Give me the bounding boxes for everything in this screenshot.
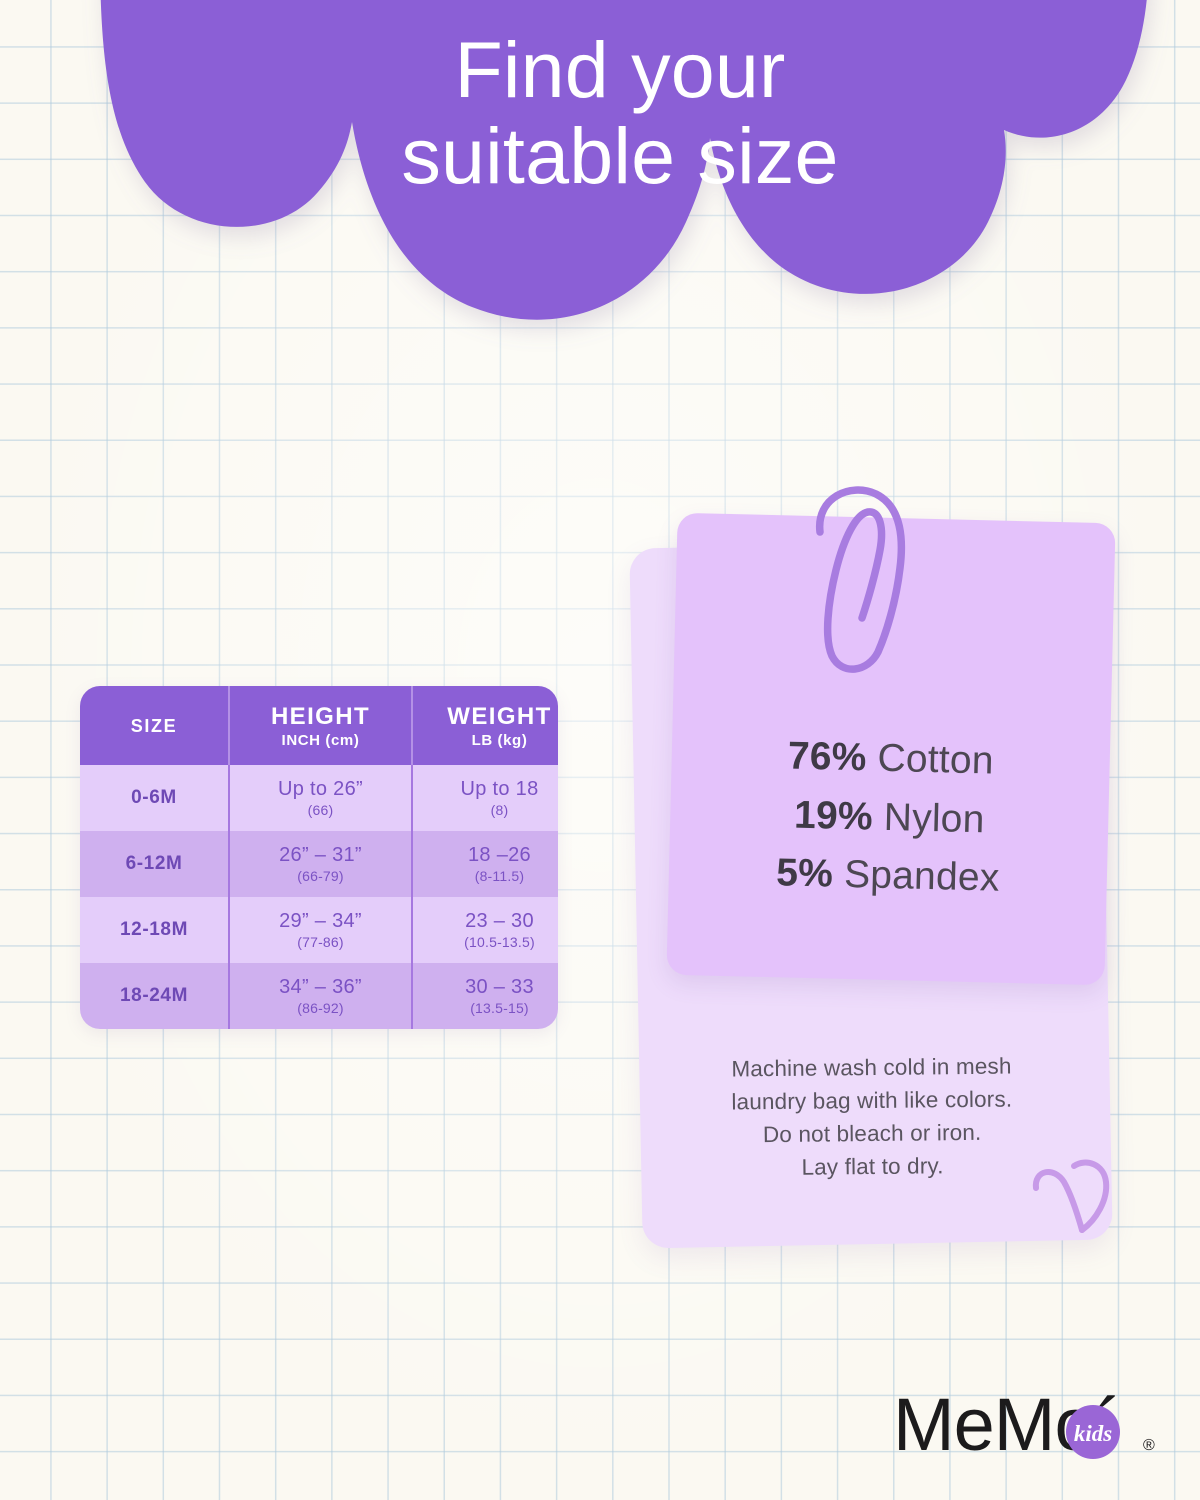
cell-weight-primary: 18 –26 <box>468 844 531 867</box>
column-header-weight-title: WEIGHT <box>447 704 551 729</box>
brand-logo: MeMoí kids ® <box>893 1388 1163 1484</box>
fabric-material: Cotton <box>877 737 994 783</box>
cell-weight: Up to 18 (8) <box>411 765 558 831</box>
fabric-item: 5% Spandex <box>668 842 1107 911</box>
cell-weight-secondary: (8) <box>491 802 509 818</box>
cell-weight-primary: 23 – 30 <box>465 910 534 933</box>
care-instructions-line: Do not bleach or iron. <box>676 1115 1068 1152</box>
fabric-material: Spandex <box>844 853 1000 900</box>
cell-weight-secondary: (10.5-13.5) <box>464 934 535 950</box>
cell-height-secondary: (86-92) <box>297 1000 344 1016</box>
cell-size: 12-18M <box>80 897 228 963</box>
cell-height-secondary: (77-86) <box>297 934 344 950</box>
fabric-percent: 5% <box>776 851 834 895</box>
column-header-weight: WEIGHT LB (kg) <box>411 686 558 765</box>
cell-weight: 30 – 33 (13.5-15) <box>411 963 558 1029</box>
column-header-weight-subtitle: LB (kg) <box>472 732 528 749</box>
page-title-line1: Find your <box>454 25 785 114</box>
table-row: 6-12M 26” – 31” (66-79) 18 –26 (8-11.5) <box>80 831 558 897</box>
cell-height-secondary: (66) <box>308 802 334 818</box>
fabric-percent: 76% <box>787 734 867 779</box>
fabric-percent: 19% <box>794 793 874 838</box>
heart-icon <box>1028 1158 1124 1244</box>
fabric-composition-list: 76% Cotton 19% Nylon 5% Spandex <box>668 725 1110 911</box>
cell-height: 34” – 36” (86-92) <box>228 963 411 1029</box>
table-row: 12-18M 29” – 34” (77-86) 23 – 30 (10.5-1… <box>80 897 558 963</box>
cloud-header: Find your suitable size <box>90 0 1150 402</box>
cell-height-primary: 29” – 34” <box>279 910 362 933</box>
fabric-item: 76% Cotton <box>671 725 1110 794</box>
cell-height-primary: 26” – 31” <box>279 844 362 867</box>
table-row: 18-24M 34” – 36” (86-92) 30 – 33 (13.5-1… <box>80 963 558 1029</box>
kids-badge-label: kids <box>1074 1421 1112 1446</box>
cell-weight: 18 –26 (8-11.5) <box>411 831 558 897</box>
cell-height: Up to 26” (66) <box>228 765 411 831</box>
cell-weight-primary: Up to 18 <box>460 778 538 801</box>
paperclip-icon <box>806 484 916 679</box>
trademark-symbol: ® <box>1143 1437 1155 1454</box>
column-header-height-subtitle: INCH (cm) <box>282 732 360 749</box>
size-chart-table: SIZE HEIGHT INCH (cm) WEIGHT LB (kg) 0-6… <box>80 686 558 1029</box>
table-row: 0-6M Up to 26” (66) Up to 18 (8) <box>80 765 558 831</box>
cell-height-secondary: (66-79) <box>297 868 344 884</box>
cell-size: 6-12M <box>80 831 228 897</box>
cell-weight: 23 – 30 (10.5-13.5) <box>411 897 558 963</box>
cell-height: 26” – 31” (66-79) <box>228 831 411 897</box>
care-instructions-line: Machine wash cold in mesh <box>675 1049 1067 1086</box>
cell-size: 0-6M <box>80 765 228 831</box>
care-instructions: Machine wash cold in mesh laundry bag wi… <box>675 1049 1068 1185</box>
cell-weight-secondary: (13.5-15) <box>470 1000 529 1016</box>
cell-size: 18-24M <box>80 963 228 1029</box>
column-header-height-title: HEIGHT <box>271 704 370 729</box>
table-header-row: SIZE HEIGHT INCH (cm) WEIGHT LB (kg) <box>80 686 558 765</box>
column-header-height: HEIGHT INCH (cm) <box>228 686 411 765</box>
page-title: Find your suitable size <box>90 32 1150 194</box>
column-header-size: SIZE <box>80 686 228 765</box>
care-instructions-line: Lay flat to dry. <box>676 1148 1068 1185</box>
page-title-line2: suitable size <box>90 118 1150 194</box>
cell-weight-primary: 30 – 33 <box>465 976 534 999</box>
cell-weight-secondary: (8-11.5) <box>475 868 525 884</box>
fabric-item: 19% Nylon <box>670 783 1109 852</box>
fabric-material: Nylon <box>883 795 985 840</box>
cell-height-primary: Up to 26” <box>278 778 363 801</box>
care-instructions-line: laundry bag with like colors. <box>676 1082 1068 1119</box>
cell-height-primary: 34” – 36” <box>279 976 362 999</box>
cell-height: 29” – 34” (77-86) <box>228 897 411 963</box>
column-header-size-title: SIZE <box>131 716 177 737</box>
